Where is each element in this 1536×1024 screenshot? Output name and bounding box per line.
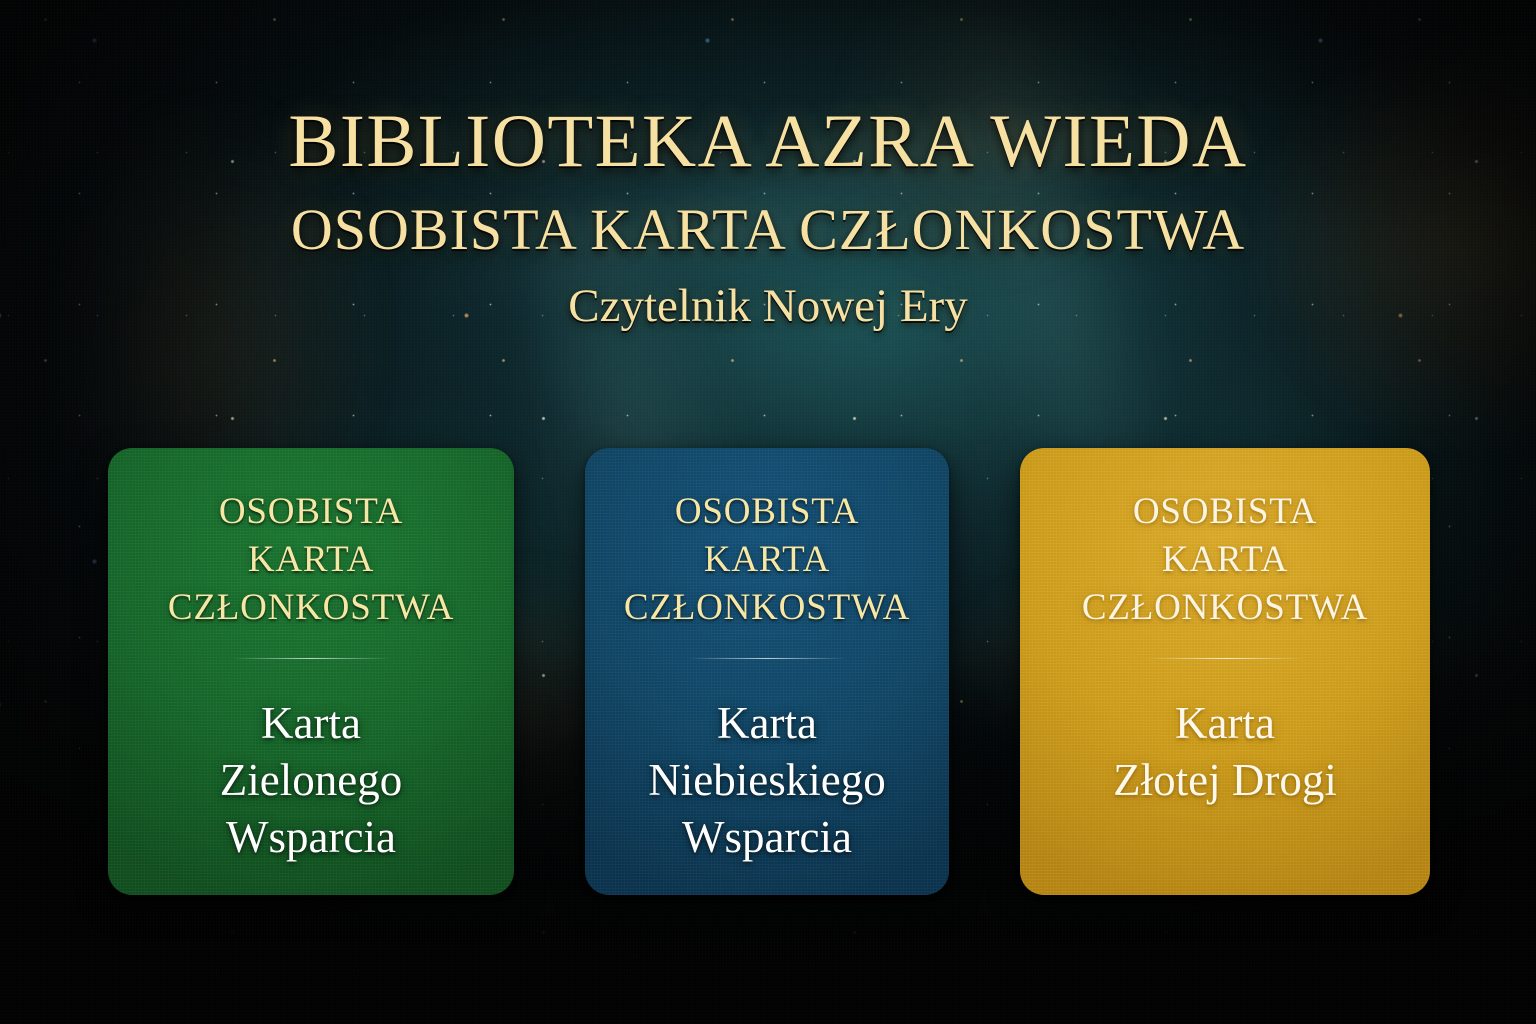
card-body-line: Karta xyxy=(126,695,496,752)
card-heading-green: OSOBISTA KARTA CZŁONKOSTWA xyxy=(126,488,496,632)
card-body-gold: Karta Złotej Drogi xyxy=(1038,659,1412,808)
membership-card-gold[interactable]: OSOBISTA KARTA CZŁONKOSTWA Karta Złotej … xyxy=(1020,448,1430,895)
card-body-blue: Karta Niebieskiego Wsparcia xyxy=(603,659,931,865)
card-heading-line: KARTA xyxy=(126,536,496,584)
card-heading-line: KARTA xyxy=(1038,536,1412,584)
membership-card-green[interactable]: OSOBISTA KARTA CZŁONKOSTWA Karta Zielone… xyxy=(108,448,514,895)
card-heading-gold: OSOBISTA KARTA CZŁONKOSTWA xyxy=(1038,488,1412,632)
card-heading-line: CZŁONKOSTWA xyxy=(603,584,931,632)
card-body-line: Zielonego xyxy=(126,752,496,809)
card-heading-blue: OSOBISTA KARTA CZŁONKOSTWA xyxy=(603,488,931,632)
page-subtitle: OSOBISTA KARTA CZŁONKOSTWA xyxy=(0,179,1536,259)
page-tagline: Czytelnik Nowej Ery xyxy=(0,259,1536,330)
card-heading-line: CZŁONKOSTWA xyxy=(1038,584,1412,632)
card-body-line: Karta xyxy=(603,695,931,752)
card-heading-line: OSOBISTA xyxy=(603,488,931,536)
card-body-line: Złotej Drogi xyxy=(1038,752,1412,809)
poster-header: BIBLIOTEKA AZRA WIEDA OSOBISTA KARTA CZŁ… xyxy=(0,0,1536,330)
card-heading-line: KARTA xyxy=(603,536,931,584)
card-body-line: Karta xyxy=(1038,695,1412,752)
card-body-line: Niebieskiego xyxy=(603,752,931,809)
card-body-line: Wsparcia xyxy=(126,809,496,866)
membership-card-blue[interactable]: OSOBISTA KARTA CZŁONKOSTWA Karta Niebies… xyxy=(585,448,949,895)
card-heading-line: CZŁONKOSTWA xyxy=(126,584,496,632)
card-body-line: Wsparcia xyxy=(603,809,931,866)
card-body-green: Karta Zielonego Wsparcia xyxy=(126,659,496,865)
membership-card-poster: BIBLIOTEKA AZRA WIEDA OSOBISTA KARTA CZŁ… xyxy=(0,0,1536,1024)
membership-card-list: OSOBISTA KARTA CZŁONKOSTWA Karta Zielone… xyxy=(108,448,1430,895)
card-heading-line: OSOBISTA xyxy=(126,488,496,536)
card-heading-line: OSOBISTA xyxy=(1038,488,1412,536)
page-title: BIBLIOTEKA AZRA WIEDA xyxy=(0,0,1536,179)
